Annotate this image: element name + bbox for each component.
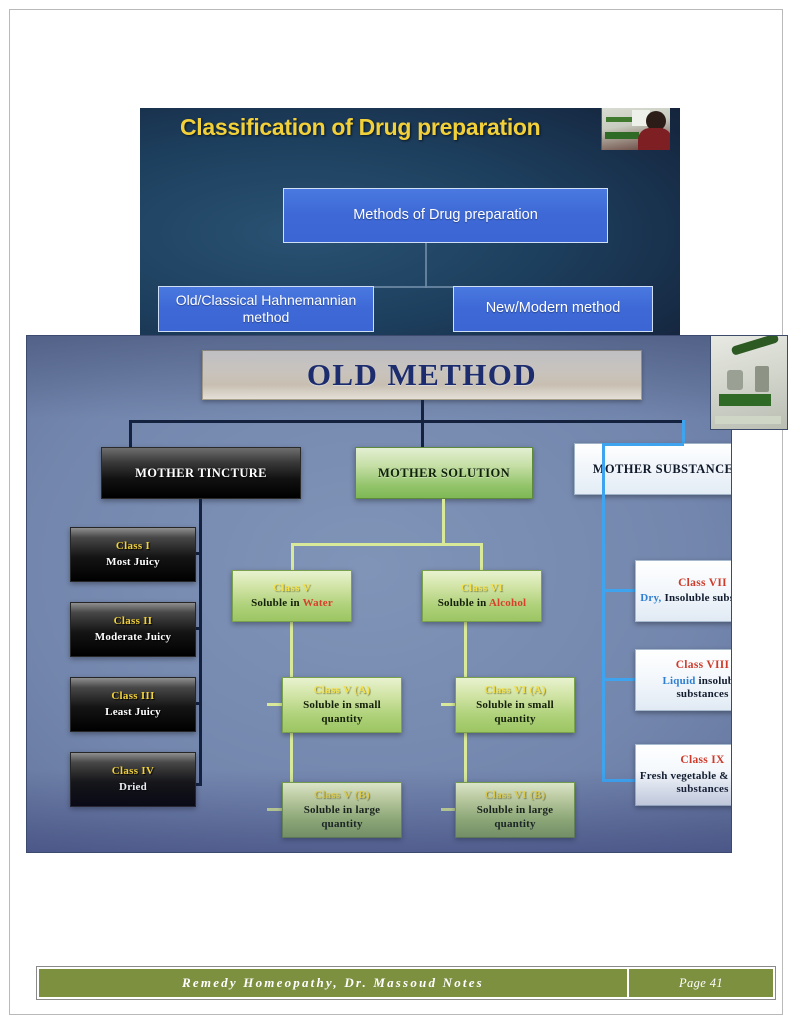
class-ix-desc: Fresh vegetable & animal substances xyxy=(636,770,732,796)
node-mother-tincture: MOTHER TINCTURE xyxy=(101,447,301,499)
class-vi-b-title: Class VI (B) xyxy=(485,789,546,802)
class-v-a-desc: Soluble in small quantity xyxy=(283,699,401,725)
connector-substance-stub-3 xyxy=(602,779,638,782)
node-class-viii: Class VIII Liquid insoluble substances xyxy=(635,649,732,711)
class-v-a-title: Class V (A) xyxy=(314,684,371,697)
class-vi-a-desc: Soluble in small quantity xyxy=(456,699,574,725)
connector-header-stem xyxy=(421,400,424,422)
node-methods-of-drug-preparation: Methods of Drug preparation xyxy=(283,188,608,243)
node-class-v-a: Class V (A) Soluble in small quantity xyxy=(282,677,402,733)
node-mother-substance: MOTHER SUBSTANCE xyxy=(574,443,732,495)
node-old-classical-hahnemannian-method: Old/Classical Hahnemannian method xyxy=(158,286,374,332)
node-new-modern-method: New/Modern method xyxy=(453,286,653,332)
footer-title: Remedy Homeopathy, Dr. Massoud Notes xyxy=(39,969,627,997)
class-vi-accent: Alcohol xyxy=(489,597,526,609)
class-vi-title: Class VI xyxy=(461,582,503,595)
class-vii-desc: Dry, Insoluble substances xyxy=(640,592,732,605)
class-iv-desc: Dried xyxy=(119,781,147,794)
node-class-vi: Class VI Soluble in Alcohol xyxy=(422,570,542,622)
class-iii-title: Class III xyxy=(111,690,154,703)
slide-old-method-diagram: OLD METHOD MOTHER TINCTURE MOTHER SOLUTI… xyxy=(26,335,732,853)
node-class-vi-b: Class VI (B) Soluble in large quantity xyxy=(455,782,575,838)
class-ii-title: Class II xyxy=(114,615,153,628)
class-iv-title: Class IV xyxy=(112,765,154,778)
node-class-v: Class V Soluble in Water xyxy=(232,570,352,622)
node-class-vii: Class VII Dry, Insoluble substances xyxy=(635,560,732,622)
node-class-v-b: Class V (B) Soluble in large quantity xyxy=(282,782,402,838)
node-class-i: Class I Most Juicy xyxy=(70,527,196,582)
class-v-desc: Soluble in Water xyxy=(251,597,333,610)
class-viii-accent: Liquid xyxy=(663,675,696,687)
webcam-thumbnail-icon xyxy=(601,108,670,150)
connector-root-vertical xyxy=(425,243,427,288)
node-class-ii: Class II Moderate Juicy xyxy=(70,602,196,657)
class-i-title: Class I xyxy=(116,540,150,553)
class-vi-b-desc: Soluble in large quantity xyxy=(456,804,574,830)
connector-substance-top xyxy=(602,443,684,446)
connector-to-mother-tincture xyxy=(129,420,132,447)
connector-substance-trunk xyxy=(602,443,605,782)
connector-level1-bus xyxy=(129,420,685,423)
class-i-desc: Most Juicy xyxy=(106,556,160,569)
class-viii-desc: Liquid insoluble substances xyxy=(636,675,732,701)
class-vii-title: Class VII xyxy=(678,577,727,591)
class-v-b-desc: Soluble in large quantity xyxy=(283,804,401,830)
footer-page-number: Page 41 xyxy=(627,969,773,997)
old-method-title: OLD METHOD xyxy=(202,350,642,400)
class-vi-desc: Soluble in Alcohol xyxy=(438,597,527,610)
webcam-thumbnail-right-icon xyxy=(710,335,788,430)
node-class-ix: Class IX Fresh vegetable & animal substa… xyxy=(635,744,732,806)
connector-solution-bus xyxy=(291,543,483,546)
slide-classification-of-drug-preparation: Classification of Drug preparation Metho… xyxy=(140,108,680,335)
class-ii-desc: Moderate Juicy xyxy=(95,631,171,644)
class-viii-title: Class VIII xyxy=(676,659,730,673)
connector-to-class-v xyxy=(291,543,294,570)
node-mother-solution: MOTHER SOLUTION xyxy=(355,447,533,499)
class-iii-desc: Least Juicy xyxy=(105,706,161,719)
node-class-iv: Class IV Dried xyxy=(70,752,196,807)
class-vi-a-title: Class VI (A) xyxy=(484,684,545,697)
document-page: Classification of Drug preparation Metho… xyxy=(9,9,783,1015)
class-v-accent: Water xyxy=(303,597,333,609)
connector-solution-stem xyxy=(442,499,445,545)
class-ix-title: Class IX xyxy=(680,754,724,768)
node-class-iii: Class III Least Juicy xyxy=(70,677,196,732)
connector-to-class-vi xyxy=(480,543,483,570)
slide-title: Classification of Drug preparation xyxy=(180,114,630,141)
connector-substance-stub-2 xyxy=(602,678,638,681)
class-vii-accent: Dry, xyxy=(640,592,661,604)
connector-substance-stub-1 xyxy=(602,589,638,592)
connector-to-mother-solution xyxy=(421,420,424,447)
connector-to-mother-substance xyxy=(682,420,685,443)
class-v-b-title: Class V (B) xyxy=(314,789,370,802)
connector-tincture-trunk xyxy=(199,499,202,786)
class-v-title: Class V xyxy=(273,582,311,595)
node-class-vi-a: Class VI (A) Soluble in small quantity xyxy=(455,677,575,733)
page-footer: Remedy Homeopathy, Dr. Massoud Notes Pag… xyxy=(36,966,776,1000)
